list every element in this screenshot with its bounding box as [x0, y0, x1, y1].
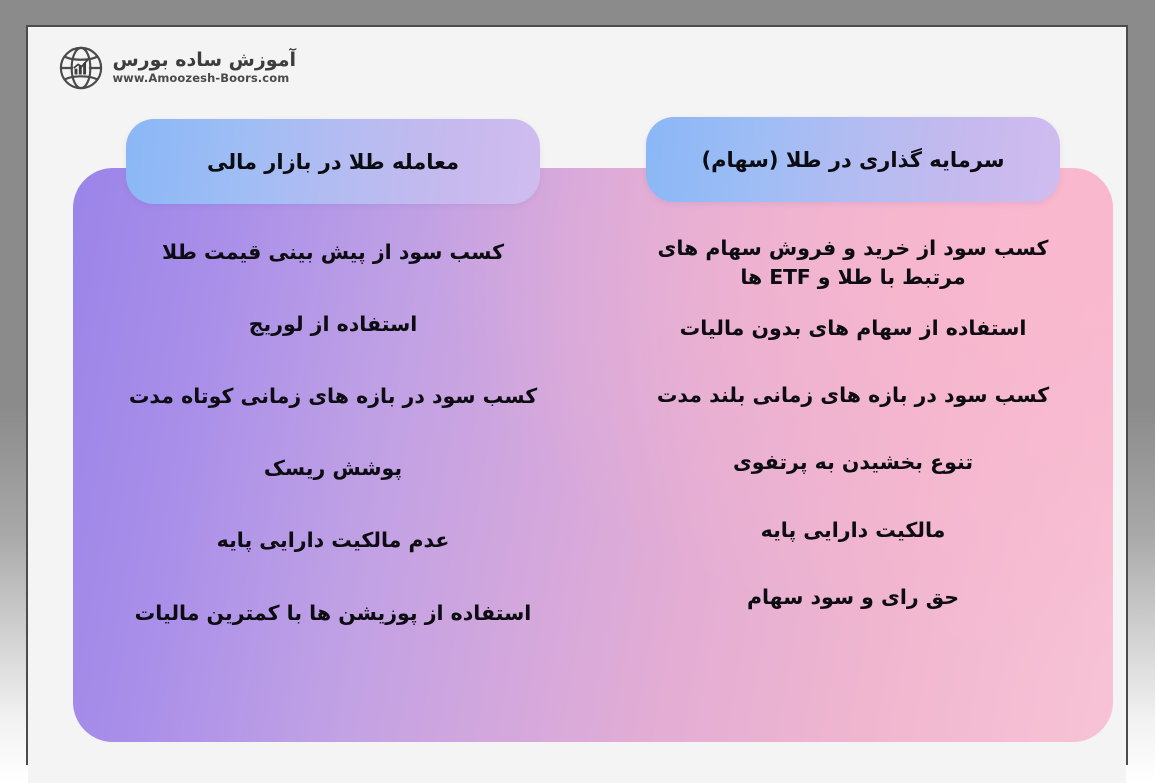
list-item: تنوع بخشیدن به پرتفوی — [628, 448, 1078, 477]
list-item: کسب سود از پیش بینی قیمت طلا — [108, 238, 558, 267]
outer-frame: آموزش ساده بورس www.Amoozesh-Boors.com م… — [0, 0, 1155, 783]
column-title-trading-label: معامله طلا در بازار مالی — [207, 150, 459, 174]
list-item: کسب سود در بازه های زمانی بلند مدت — [628, 381, 1078, 410]
brand-url: www.Amoozesh-Boors.com — [112, 73, 289, 85]
list-item: استفاده از پوزیشن ها با کمترین مالیات — [108, 599, 558, 628]
column-investing: سرمایه گذاری در طلا (سهام) کسب سود از خر… — [593, 117, 1113, 757]
list-item: مالکیت دارایی پایه — [628, 516, 1078, 545]
globe-chart-icon — [58, 45, 104, 91]
content-panel: آموزش ساده بورس www.Amoozesh-Boors.com م… — [28, 27, 1126, 783]
column-title-trading: معامله طلا در بازار مالی — [126, 119, 540, 204]
list-item: استفاده از سهام های بدون مالیات — [628, 314, 1078, 343]
list-item: استفاده از لوریج — [108, 310, 558, 339]
column-trading: معامله طلا در بازار مالی کسب سود از پیش … — [73, 117, 593, 757]
list-item: حق رای و سود سهام — [628, 583, 1078, 612]
column-title-investing-label: سرمایه گذاری در طلا (سهام) — [702, 148, 1005, 172]
brand-logo: آموزش ساده بورس www.Amoozesh-Boors.com — [58, 45, 296, 91]
comparison-columns: معامله طلا در بازار مالی کسب سود از پیش … — [73, 117, 1113, 757]
list-item: کسب سود از خرید و فروش سهام های مرتبط با… — [628, 234, 1078, 292]
list-item: کسب سود در بازه های زمانی کوتاه مدت — [108, 382, 558, 411]
list-item: پوشش ریسک — [108, 454, 558, 483]
brand-name: آموزش ساده بورس — [112, 51, 296, 70]
column-title-investing: سرمایه گذاری در طلا (سهام) — [646, 117, 1060, 202]
list-item: عدم مالکیت دارایی پایه — [108, 526, 558, 555]
feature-list-trading: کسب سود از پیش بینی قیمت طلا استفاده از … — [108, 238, 558, 628]
feature-list-investing: کسب سود از خرید و فروش سهام های مرتبط با… — [628, 234, 1078, 612]
